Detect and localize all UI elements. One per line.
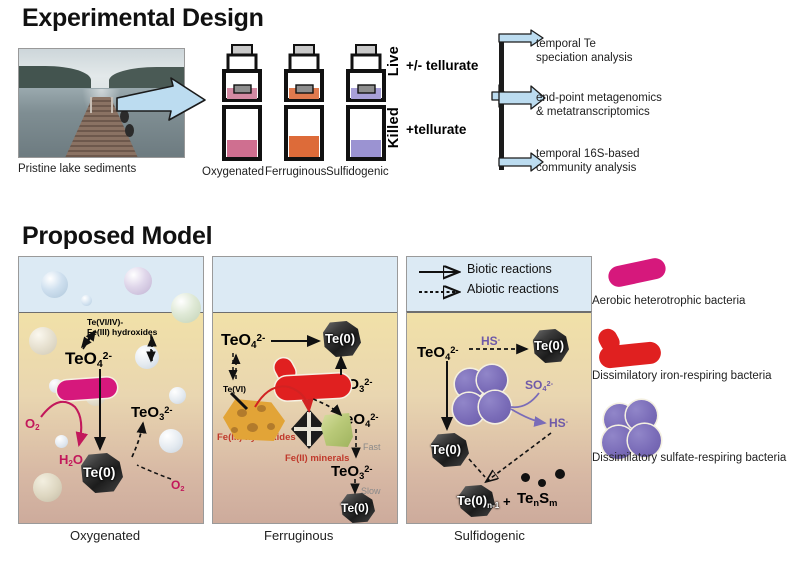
ferruginous-reaction-arrows <box>213 257 398 524</box>
bottle-ferruginous <box>277 44 331 162</box>
analysis-branch-2: end-point metagenomics & metatranscripto… <box>536 92 662 119</box>
analysis-branch-3-line2: community analysis <box>536 162 640 176</box>
bottle-oxygenated <box>215 44 269 162</box>
reaction-type-legend: Biotic reactions Abiotic reactions <box>406 256 592 312</box>
legend-arrow-icons <box>417 263 465 307</box>
analysis-branch-1: temporal Te speciation analysis <box>536 38 633 65</box>
analysis-branch-3-line1: temporal 16S-based <box>536 148 640 162</box>
row-label-killed: Killed <box>386 107 402 148</box>
page-title-proposed-model: Proposed Model <box>22 222 212 251</box>
flow-arrow-icon <box>115 78 207 126</box>
legend-label-biotic: Biotic reactions <box>467 262 552 276</box>
panel-caption-oxygenated: Oxygenated <box>70 528 140 543</box>
bottle-label-oxygenated: Oxygenated <box>202 166 264 178</box>
model-panel-oxygenated: Te(VI/IV)- Fe(III) hydroxides TeO42- TeO… <box>18 256 204 524</box>
treatment-label-live: +/- tellurate <box>406 58 478 73</box>
analysis-branch-1-line1: temporal Te <box>536 38 633 52</box>
model-panel-ferruginous: TeO42- Te(VI) Fe(III) hydroxides Fe(II) … <box>212 256 398 524</box>
legend-icon-aerobic-heterotroph <box>606 256 667 289</box>
bottle-label-ferruginous: Ferruginous <box>265 166 326 178</box>
legend-label-iron-respirer: Dissimilatory iron-respiring bacteria <box>592 370 772 382</box>
analysis-branch-3: temporal 16S-based community analysis <box>536 148 640 175</box>
legend-label-abiotic: Abiotic reactions <box>467 282 559 296</box>
analysis-branch-1-line2: speciation analysis <box>536 52 633 66</box>
panel-caption-sulfidogenic: Sulfidogenic <box>454 528 525 543</box>
bottle-label-sulfidogenic: Sulfidogenic <box>326 166 389 178</box>
bottle-sulfidogenic <box>339 44 393 162</box>
oxygenated-reaction-arrows <box>19 257 204 524</box>
treatment-label-killed: +tellurate <box>406 122 466 137</box>
legend-label-aerobic-heterotroph: Aerobic heterotrophic bacteria <box>592 295 745 307</box>
legend-label-sulfate-reducer: Dissimilatory sulfate-respiring bacteria <box>592 452 786 464</box>
panel-caption-ferruginous: Ferruginous <box>264 528 333 543</box>
row-label-live: Live <box>386 46 402 76</box>
analysis-branch-2-line2: & metatranscriptomics <box>536 106 662 120</box>
lake-photo-caption: Pristine lake sediments <box>18 163 136 175</box>
analysis-branch-2-line1: end-point metagenomics <box>536 92 662 106</box>
page-title-experimental-design: Experimental Design <box>22 4 264 33</box>
